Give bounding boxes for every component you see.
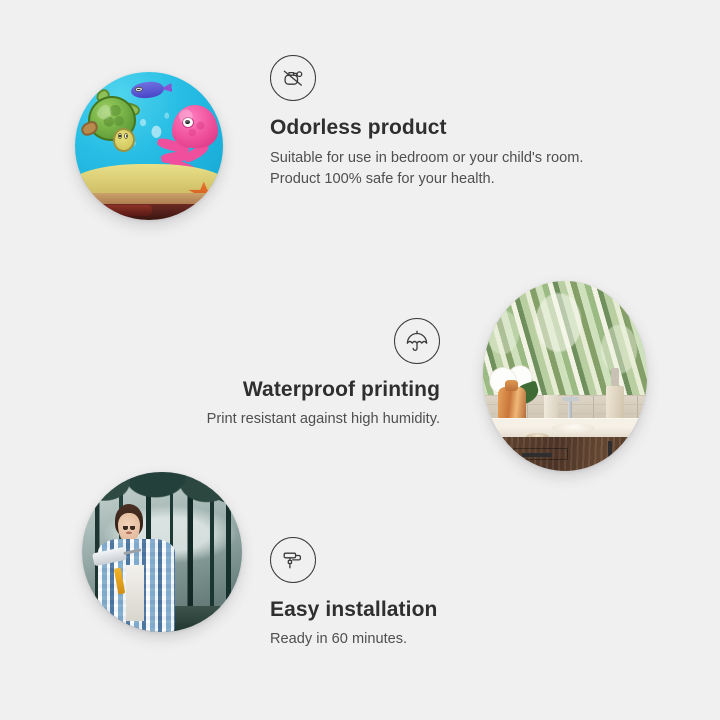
no-odor-perfume-icon	[270, 55, 316, 101]
sea-turtle-icon	[84, 96, 149, 155]
feature-description: Print resistant against high humidity.	[150, 409, 440, 430]
aquarium-scene	[75, 72, 223, 220]
cabinet-handle	[608, 441, 612, 466]
umbrella-icon	[394, 318, 440, 364]
feature-title: Odorless product	[270, 115, 600, 140]
medallion-bathroom-photo	[483, 281, 647, 471]
feature-title: Waterproof printing	[150, 377, 440, 402]
turtle-eye	[124, 133, 129, 140]
woman-figure	[95, 504, 178, 632]
room-furniture	[75, 204, 223, 220]
forest-mural-scene	[82, 472, 242, 632]
feature-title: Easy installation	[270, 597, 570, 622]
medallion-aquarium-photo	[75, 72, 223, 220]
feature-showcase: Odorless product Suitable for use in bed…	[0, 0, 720, 720]
drawer-handle	[522, 453, 552, 457]
feature-block-installation: Easy installation Ready in 60 minutes.	[270, 537, 570, 650]
turtle-eye	[118, 133, 123, 140]
octopus-body	[172, 105, 218, 148]
bathroom-scene	[483, 281, 647, 471]
inner-shirt	[126, 565, 144, 621]
turtle-head	[113, 128, 135, 152]
feature-block-waterproof: Waterproof printing Print resistant agai…	[150, 318, 440, 430]
medallion-installer-photo	[82, 472, 242, 632]
paint-roller-icon	[270, 537, 316, 583]
sink-basin	[552, 423, 595, 434]
octopus-eye	[182, 117, 194, 128]
feature-block-odorless: Odorless product Suitable for use in bed…	[270, 55, 600, 191]
feature-description: Ready in 60 minutes.	[270, 629, 570, 650]
feature-description: Suitable for use in bedroom or your chil…	[270, 148, 600, 190]
